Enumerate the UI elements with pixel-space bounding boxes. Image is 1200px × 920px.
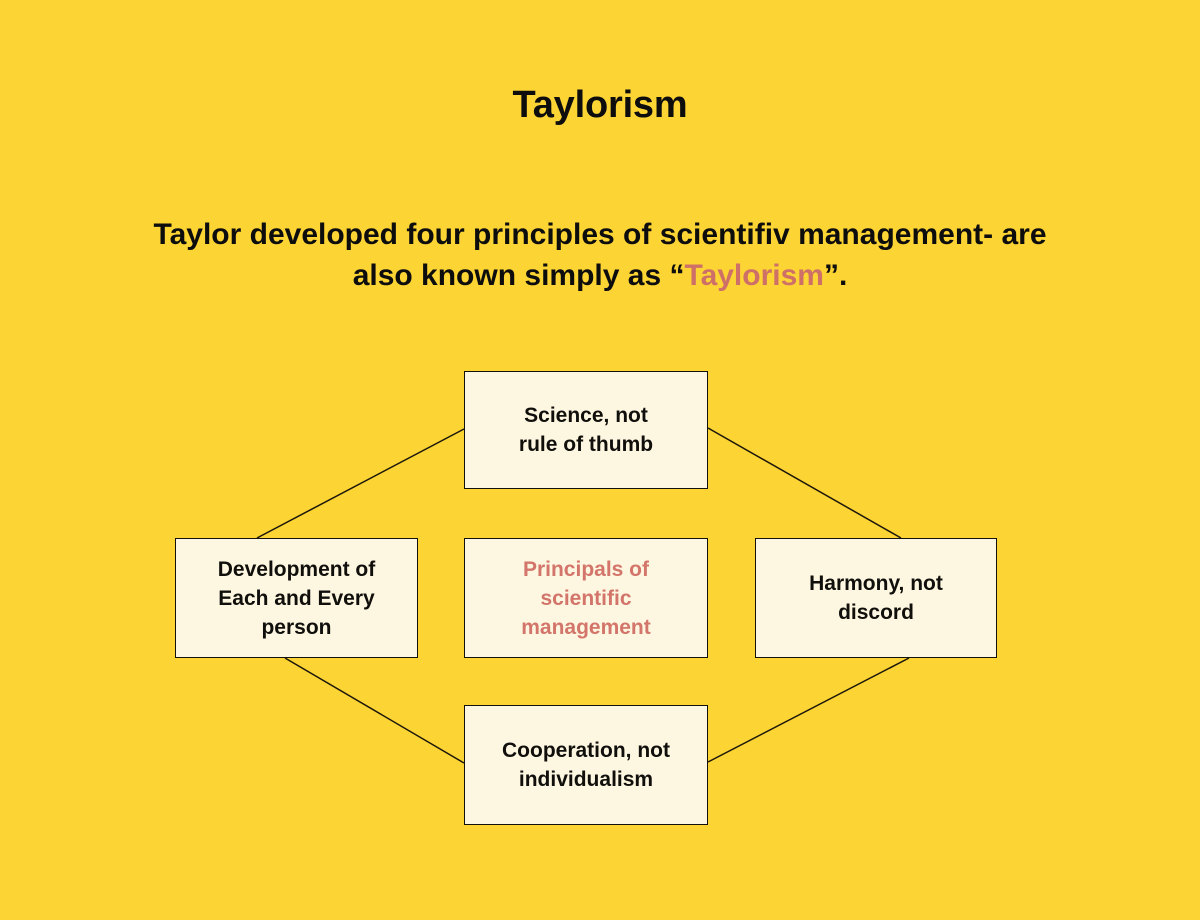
- subtitle-accent-taylorism: Taylorism: [684, 259, 824, 292]
- node-label: Cooperation, not individualism: [502, 736, 670, 794]
- connector-bottom-to-right: [708, 658, 909, 762]
- subtitle-text: Taylor developed four principles of scie…: [150, 214, 1050, 296]
- node-label: Science, not rule of thumb: [519, 401, 653, 459]
- slide-canvas: Taylorism Taylor developed four principl…: [0, 0, 1200, 920]
- node-science-not-rule-of-thumb[interactable]: Science, not rule of thumb: [464, 371, 708, 489]
- node-harmony-not-discord[interactable]: Harmony, not discord: [755, 538, 997, 658]
- node-principals-of-scientific-management[interactable]: Principals of scientific management: [464, 538, 708, 658]
- node-development-of-each-and-every-person[interactable]: Development of Each and Every person: [175, 538, 418, 658]
- node-label: Development of Each and Every person: [218, 555, 376, 642]
- node-label: Principals of scientific management: [521, 555, 651, 642]
- page-title: Taylorism: [0, 84, 1200, 127]
- connector-left-to-bottom: [285, 658, 464, 763]
- connector-left-to-top: [257, 429, 464, 538]
- connector-top-to-right: [708, 428, 901, 538]
- node-cooperation-not-individualism[interactable]: Cooperation, not individualism: [464, 705, 708, 825]
- node-label: Harmony, not discord: [809, 569, 943, 627]
- subtitle-part-2: ”.: [824, 259, 847, 292]
- subtitle-part-1: Taylor developed four principles of scie…: [154, 218, 1047, 292]
